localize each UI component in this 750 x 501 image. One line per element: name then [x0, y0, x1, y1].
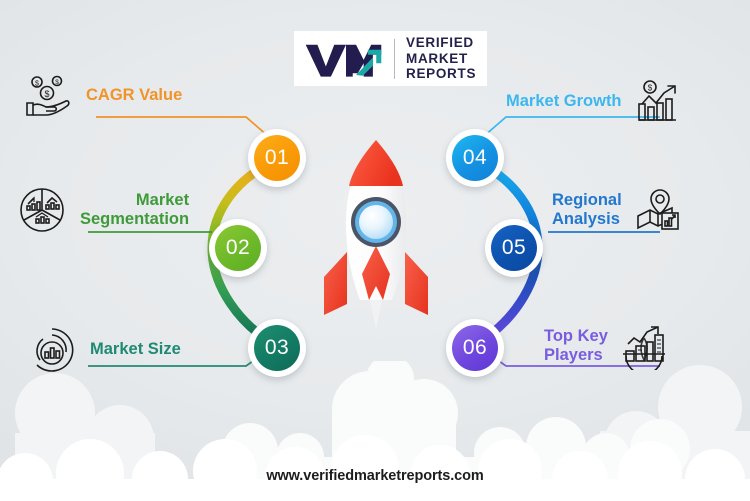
item-label-market-growth: Market Growth	[506, 92, 622, 111]
brand-line-2: MARKET	[406, 51, 476, 66]
logo-divider	[394, 39, 395, 79]
item-label-regional-analysis: Regional Analysis	[552, 191, 622, 229]
item-market-segmentation[interactable]: Market Segmentation	[18, 186, 189, 234]
item-market-growth[interactable]: Market Growth $	[506, 78, 682, 126]
step-number-05: 05	[491, 225, 537, 271]
brand-name: VERIFIED MARKET REPORTS	[406, 35, 476, 81]
step-node-02[interactable]: 02	[209, 219, 267, 277]
step-number-01: 01	[254, 135, 300, 181]
step-number-04: 04	[452, 135, 498, 181]
step-node-04[interactable]: 04	[446, 129, 504, 187]
brand-logo: VERIFIED MARKET REPORTS	[294, 31, 487, 86]
svg-text:$: $	[35, 81, 39, 88]
growth-bars-arrow-icon: $	[634, 78, 682, 126]
brand-line-3: REPORTS	[406, 66, 476, 81]
item-cagr-value[interactable]: $ $ $ CAGR Value	[24, 72, 182, 120]
website-url[interactable]: www.verifiedmarketreports.com	[0, 468, 750, 484]
svg-text:$: $	[647, 84, 652, 93]
rocket-illustration	[312, 134, 440, 329]
segmented-pie-chart-icon	[18, 186, 66, 234]
item-label-cagr-value: CAGR Value	[86, 86, 182, 105]
infographic-canvas: VERIFIED MARKET REPORTS	[0, 0, 750, 501]
vmr-logo-icon	[304, 38, 388, 80]
step-number-02: 02	[215, 225, 261, 271]
brand-line-1: VERIFIED	[406, 35, 476, 50]
item-label-top-key-players: Top Key Players	[544, 327, 608, 365]
step-node-01[interactable]: 01	[248, 129, 306, 187]
svg-text:$: $	[55, 79, 59, 86]
hand-with-coins-icon: $ $ $	[24, 72, 72, 120]
map-pin-chart-icon	[634, 186, 682, 234]
step-node-05[interactable]: 05	[485, 219, 543, 277]
svg-text:$: $	[44, 89, 49, 99]
item-regional-analysis[interactable]: Regional Analysis	[552, 186, 682, 234]
item-label-market-segmentation: Market Segmentation	[80, 191, 189, 229]
item-label-market-size: Market Size	[90, 340, 181, 359]
